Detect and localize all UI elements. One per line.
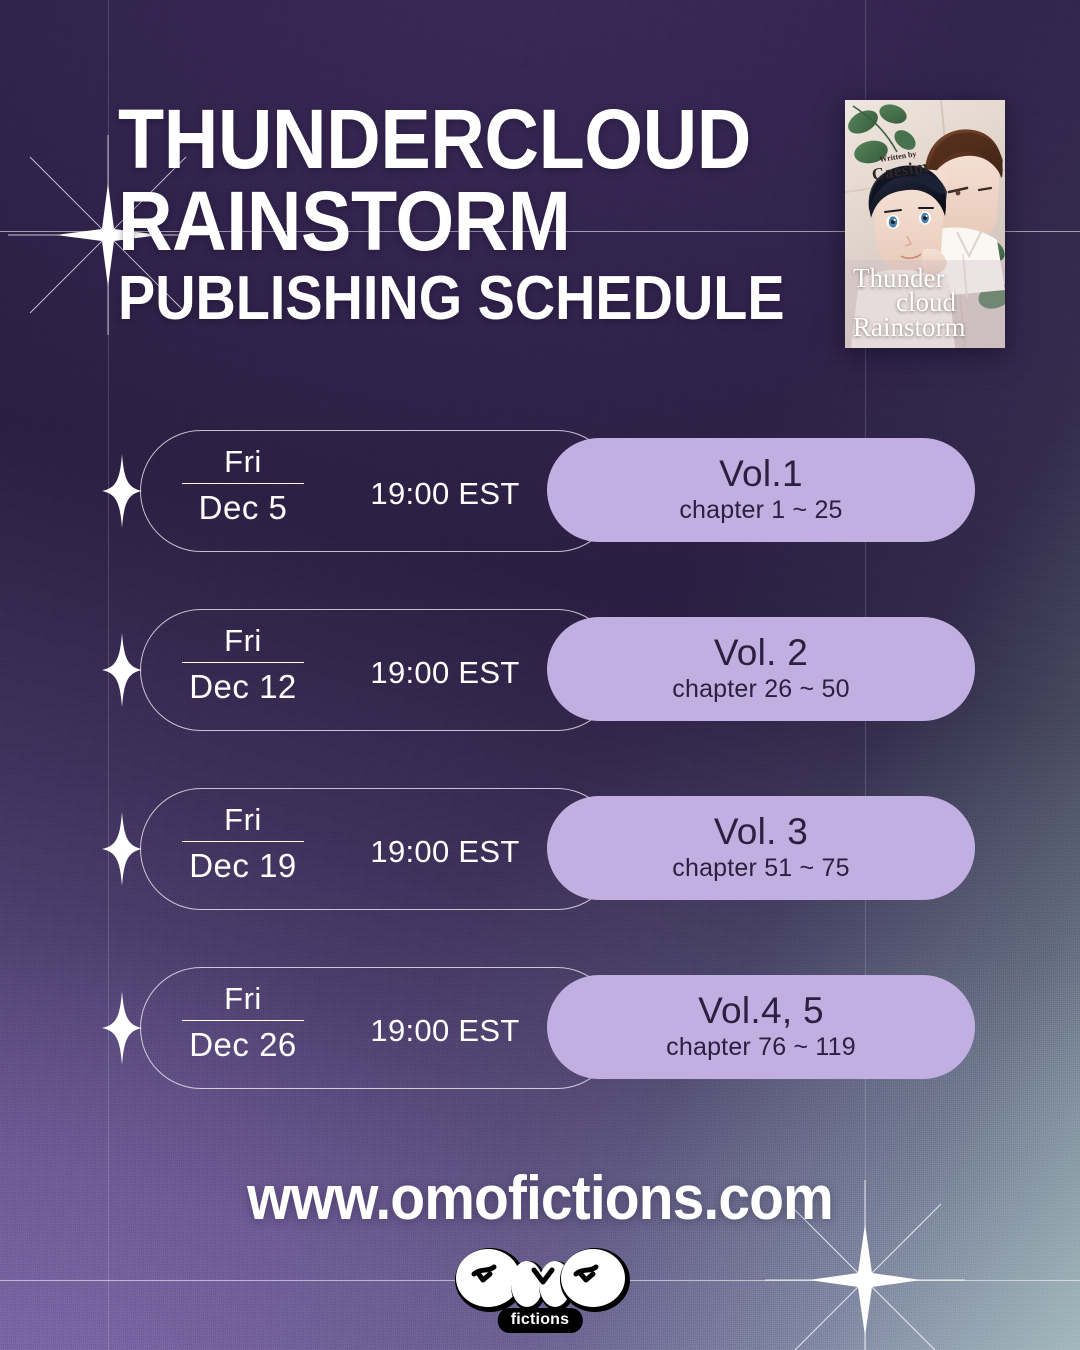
volume-chapters: chapter 1 ~ 25	[679, 496, 842, 525]
schedule-day-of-week: Fri	[176, 981, 310, 1017]
date-divider	[182, 1020, 304, 1022]
date-divider	[182, 483, 304, 485]
publishing-schedule-poster: THUNDERCLOUD RAINSTORM PUBLISHING SCHEDU…	[0, 0, 1080, 1350]
schedule-date: Fri Dec 19	[176, 802, 310, 885]
schedule-date-value: Dec 19	[176, 847, 310, 885]
schedule-row: Fri Dec 5 19:00 EST Vol.1 chapter 1 ~ 25	[0, 430, 1080, 552]
schedule-date-value: Dec 5	[176, 489, 310, 527]
volume-chapters: chapter 26 ~ 50	[672, 675, 849, 704]
date-divider	[182, 662, 304, 664]
schedule-date-value: Dec 26	[176, 1026, 310, 1064]
date-divider	[182, 841, 304, 843]
schedule-time: 19:00 EST	[340, 476, 550, 512]
cover-title-text: Thunder cloud Rainstorm	[853, 266, 999, 340]
schedule-day-of-week: Fri	[176, 444, 310, 480]
schedule-time: 19:00 EST	[340, 655, 550, 691]
schedule-list: Fri Dec 5 19:00 EST Vol.1 chapter 1 ~ 25…	[0, 430, 1080, 1146]
volume-pill: Vol. 2 chapter 26 ~ 50	[547, 617, 975, 721]
volume-chapters: chapter 76 ~ 119	[666, 1033, 856, 1062]
schedule-day-of-week: Fri	[176, 623, 310, 659]
schedule-day-of-week: Fri	[176, 802, 310, 838]
website-url[interactable]: www.omofictions.com	[43, 1163, 1037, 1234]
volume-chapters: chapter 51 ~ 75	[672, 854, 849, 883]
schedule-row: Fri Dec 19 19:00 EST Vol. 3 chapter 51 ~…	[0, 788, 1080, 910]
sparkle-diamond-icon	[102, 633, 142, 707]
schedule-row: Fri Dec 12 19:00 EST Vol. 2 chapter 26 ~…	[0, 609, 1080, 731]
schedule-time: 19:00 EST	[340, 834, 550, 870]
book-cover-thumbnail: Written by Caesim Thunder cloud Rainstor…	[845, 100, 1005, 348]
title-line-2: RAINSTORM	[118, 182, 757, 260]
volume-pill: Vol.4, 5 chapter 76 ~ 119	[547, 975, 975, 1079]
sparkle-diamond-icon	[102, 991, 142, 1065]
title-line-1: THUNDERCLOUD	[118, 100, 757, 178]
schedule-time: 19:00 EST	[340, 1013, 550, 1049]
logo-fictions-badge: fictions	[498, 1308, 583, 1333]
poster-title-block: THUNDERCLOUD RAINSTORM PUBLISHING SCHEDU…	[118, 100, 828, 328]
volume-label: Vol. 2	[714, 634, 808, 673]
schedule-date: Fri Dec 26	[176, 981, 310, 1064]
volume-label: Vol.4, 5	[698, 992, 824, 1031]
title-subtitle: PUBLISHING SCHEDULE	[118, 270, 757, 328]
schedule-row: Fri Dec 26 19:00 EST Vol.4, 5 chapter 76…	[0, 967, 1080, 1089]
omo-fictions-logo: fictions	[440, 1246, 640, 1342]
volume-label: Vol.1	[719, 455, 803, 494]
volume-pill: Vol.1 chapter 1 ~ 25	[547, 438, 975, 542]
sparkle-diamond-icon	[102, 454, 142, 528]
schedule-date: Fri Dec 5	[176, 444, 310, 527]
schedule-date-value: Dec 12	[176, 668, 310, 706]
sparkle-diamond-icon	[102, 812, 142, 886]
schedule-date: Fri Dec 12	[176, 623, 310, 706]
volume-pill: Vol. 3 chapter 51 ~ 75	[547, 796, 975, 900]
volume-label: Vol. 3	[714, 813, 808, 852]
cover-title-word-3: Rainstorm	[853, 315, 999, 340]
